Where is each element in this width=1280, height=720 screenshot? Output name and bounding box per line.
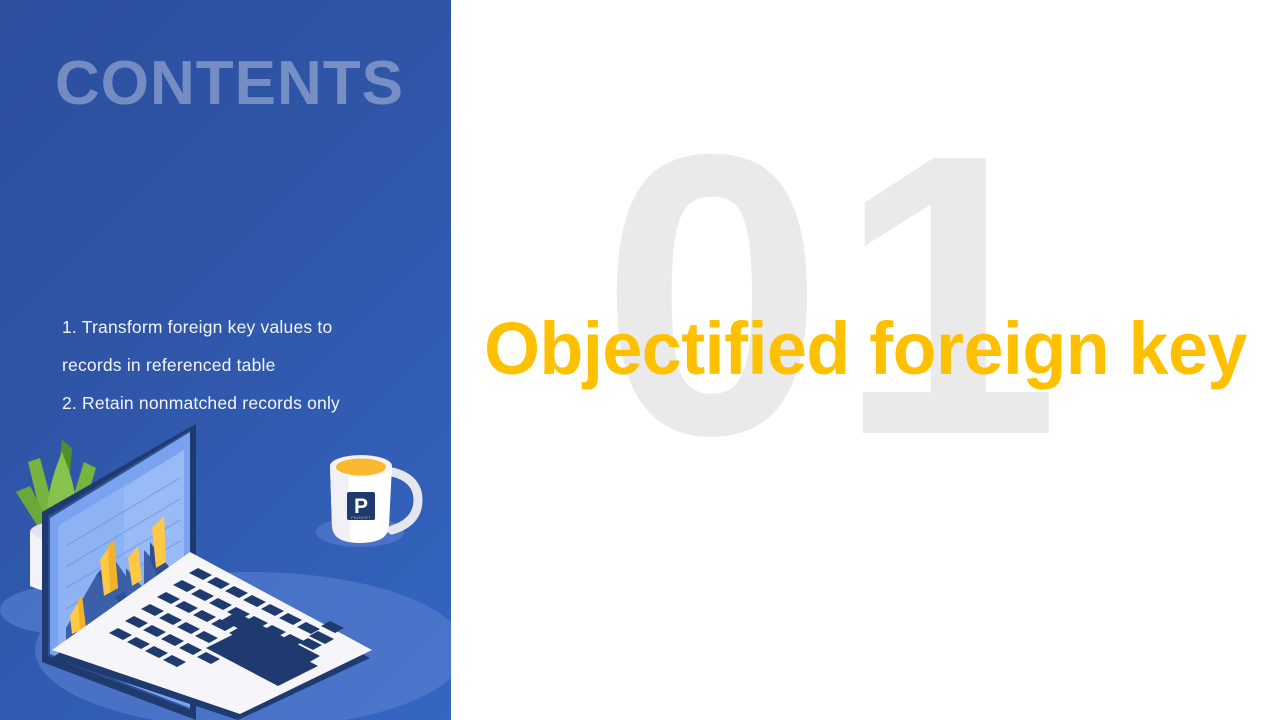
main-content-panel: 01 Objectified foreign key [451,0,1280,720]
list-item: 2. Retain nonmatched records only [62,384,442,422]
laptop-illustration: P PEAKSOFT [0,400,451,720]
bullet-list: 1. Transform foreign key values to recor… [62,308,442,422]
svg-text:P: P [354,495,368,518]
list-item: 1. Transform foreign key values to [62,308,442,346]
section-number-watermark: 01 [601,95,1074,495]
coffee-mug-icon: P PEAKSOFT [330,455,418,543]
presentation-slide: CONTENTS 1. Transform foreign key values… [0,0,1280,720]
page-title: CONTENTS [55,50,404,118]
section-title: Objectified foreign key [473,302,1258,395]
svg-text:PEAKSOFT: PEAKSOFT [351,516,370,520]
sidebar-panel: CONTENTS 1. Transform foreign key values… [0,0,451,720]
list-item: records in referenced table [62,346,442,384]
